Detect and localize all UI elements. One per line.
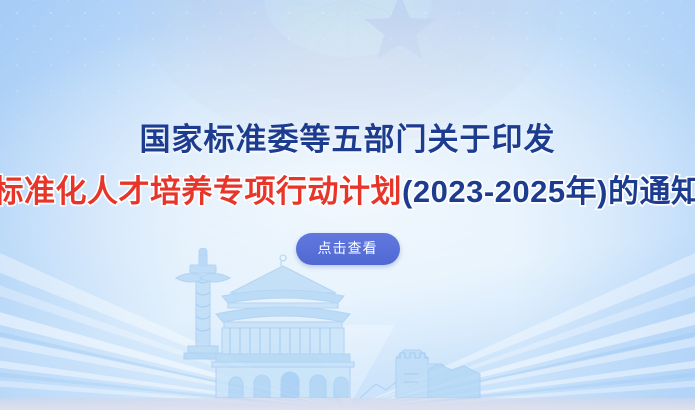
promo-banner: 国家标准委等五部门关于印发 标准化人才培养专项行动计划(2023-2025年)的… <box>0 0 695 410</box>
view-details-button[interactable]: 点击查看 <box>296 233 400 265</box>
banner-content: 国家标准委等五部门关于印发 标准化人才培养专项行动计划(2023-2025年)的… <box>0 0 695 410</box>
cta-container: 点击查看 <box>296 233 400 265</box>
banner-title-line-1: 国家标准委等五部门关于印发 <box>140 120 556 160</box>
banner-title-line-2: 标准化人才培养专项行动计划(2023-2025年)的通知 <box>0 172 695 212</box>
banner-title-highlight: 标准化人才培养专项行动计划 <box>0 174 402 209</box>
banner-title-suffix: (2023-2025年)的通知 <box>402 174 695 209</box>
